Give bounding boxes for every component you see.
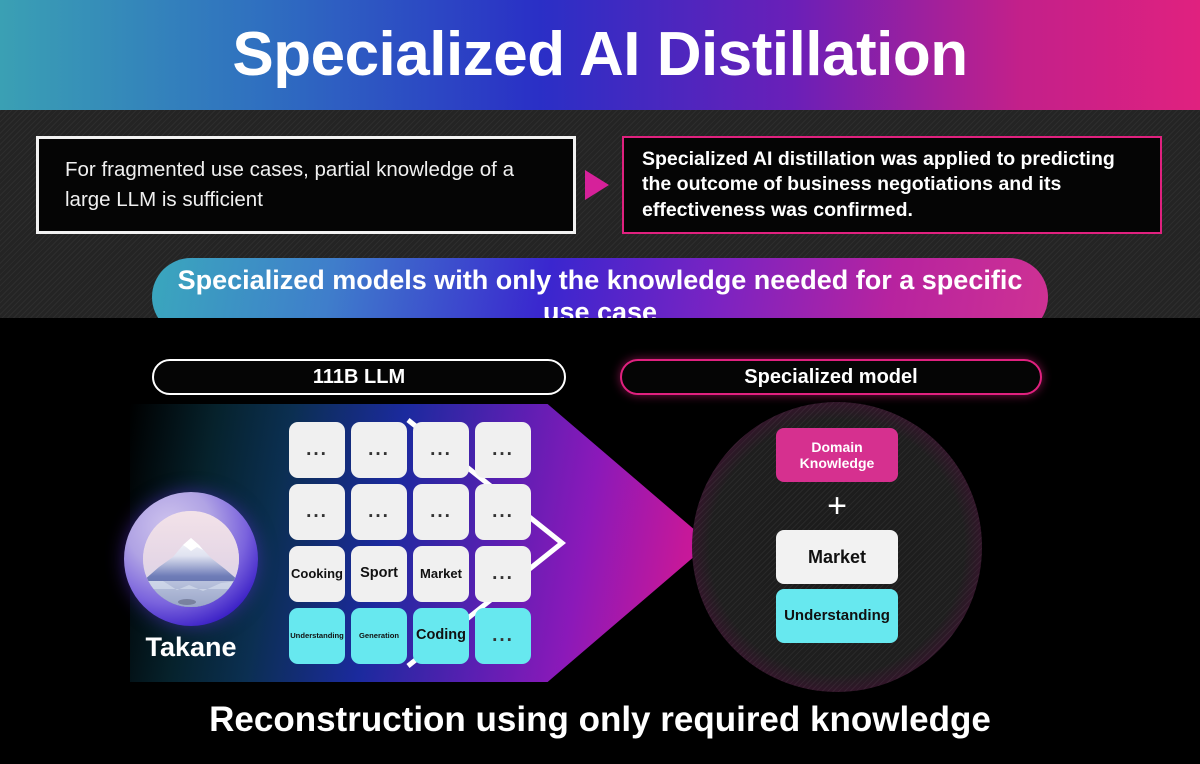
callout-right: Specialized AI distillation was applied … [622, 136, 1162, 234]
knowledge-tile: ... [413, 484, 469, 540]
block-market: Market [776, 530, 898, 584]
knowledge-tile: ... [289, 422, 345, 478]
label-target-model: Specialized model [620, 359, 1042, 395]
knowledge-tile: ... [475, 422, 531, 478]
label-source-model: 111B LLM [152, 359, 566, 395]
plus-icon: + [776, 482, 898, 530]
callout-left-text: For fragmented use cases, partial knowle… [65, 155, 547, 214]
takane-label: Takane [86, 632, 296, 663]
label-source-model-text: 111B LLM [313, 366, 405, 389]
block-domain-knowledge: Domain Knowledge [776, 428, 898, 482]
page-title: Specialized AI Distillation [0, 0, 1200, 110]
knowledge-tile: Coding [413, 608, 469, 664]
knowledge-tile: ... [413, 422, 469, 478]
specialized-model-circle: Domain Knowledge + Market Understanding [692, 402, 982, 692]
label-target-model-text: Specialized model [744, 366, 917, 389]
knowledge-tile: ... [289, 484, 345, 540]
knowledge-tile: Market [413, 546, 469, 602]
mount-fuji-avatar-icon [143, 511, 239, 607]
knowledge-grid: ........................CookingSportMark… [289, 422, 537, 670]
block-understanding: Understanding [776, 589, 898, 643]
knowledge-tile: ... [475, 546, 531, 602]
knowledge-tile: ... [351, 484, 407, 540]
knowledge-tile: ... [351, 422, 407, 478]
knowledge-tile: Understanding [289, 608, 345, 664]
bottom-caption: Reconstruction using only required knowl… [0, 700, 1200, 740]
callout-right-text: Specialized AI distillation was applied … [642, 147, 1142, 223]
takane-avatar-group: Takane [124, 492, 258, 626]
knowledge-tile: Generation [351, 608, 407, 664]
knowledge-tile: Sport [351, 546, 407, 602]
play-triangle-icon [585, 170, 609, 200]
knowledge-tile: ... [475, 608, 531, 664]
header-band: Specialized AI Distillation [0, 0, 1200, 110]
knowledge-tile: Cooking [289, 546, 345, 602]
specialized-knowledge-stack: Domain Knowledge + Market Understanding [776, 428, 898, 643]
knowledge-tile: ... [475, 484, 531, 540]
callout-left: For fragmented use cases, partial knowle… [36, 136, 576, 234]
